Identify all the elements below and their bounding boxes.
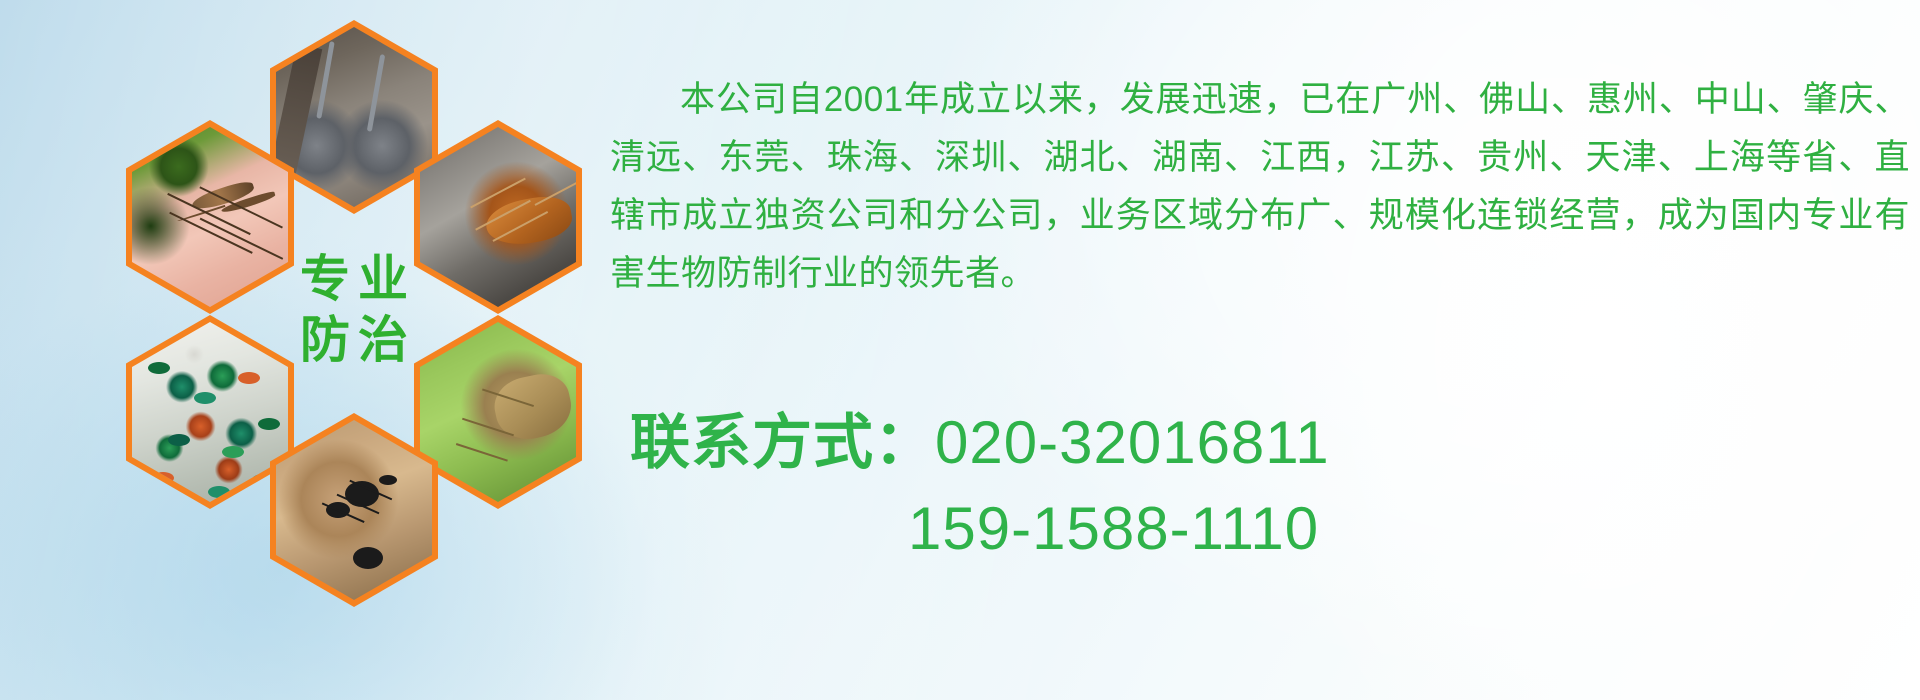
- stinkbug-photo: [420, 322, 576, 502]
- hex-image-frame: [132, 322, 288, 502]
- hex-image-frame: [276, 27, 432, 207]
- center-label-line-1: 专业: [292, 249, 416, 310]
- contact-primary-line: 联系方式：020-32016811: [610, 400, 1910, 486]
- mosquito-photo: [132, 127, 288, 307]
- company-intro-paragraph: 本公司自2001年成立以来，发展迅速，已在广州、佛山、惠州、中山、肇庆、清远、东…: [610, 71, 1910, 303]
- hex-image-frame: [276, 420, 432, 600]
- ant-photo: [276, 420, 432, 600]
- flies-photo: [132, 322, 288, 502]
- center-label-line-2: 防治: [292, 310, 416, 371]
- hex-image-frame: [420, 322, 576, 502]
- honeycomb-photo-collage: 专业 防治: [96, 10, 596, 570]
- contact-phone-primary[interactable]: 020-32016811: [935, 409, 1330, 476]
- hex-image-frame: [420, 127, 576, 307]
- rodents-photo: [276, 27, 432, 207]
- hex-cell-ant: [270, 413, 438, 607]
- hex-cell-mosquito: [126, 120, 294, 314]
- hex-cell-stinkbug: [414, 315, 582, 509]
- contact-secondary-line: 159-1588-1110: [610, 486, 1910, 572]
- cockroach-photo: [420, 127, 576, 307]
- honeycomb-center-label: 专业 防治: [270, 210, 438, 410]
- hex-cell-cockroach: [414, 120, 582, 314]
- hex-cell-rodents: [270, 20, 438, 214]
- hex-image-frame: [132, 127, 288, 307]
- hex-cell-flies: [126, 315, 294, 509]
- promo-banner: 专业 防治 本公司自2001年成立以来，发展迅速，已在广州、佛山、惠州、中山、肇…: [0, 0, 1920, 700]
- contact-block: 联系方式：020-32016811 159-1588-1110: [610, 400, 1910, 572]
- banner-content: 本公司自2001年成立以来，发展迅速，已在广州、佛山、惠州、中山、肇庆、清远、东…: [610, 0, 1920, 700]
- contact-phone-secondary[interactable]: 159-1588-1110: [908, 495, 1319, 562]
- contact-label: 联系方式：: [630, 409, 935, 476]
